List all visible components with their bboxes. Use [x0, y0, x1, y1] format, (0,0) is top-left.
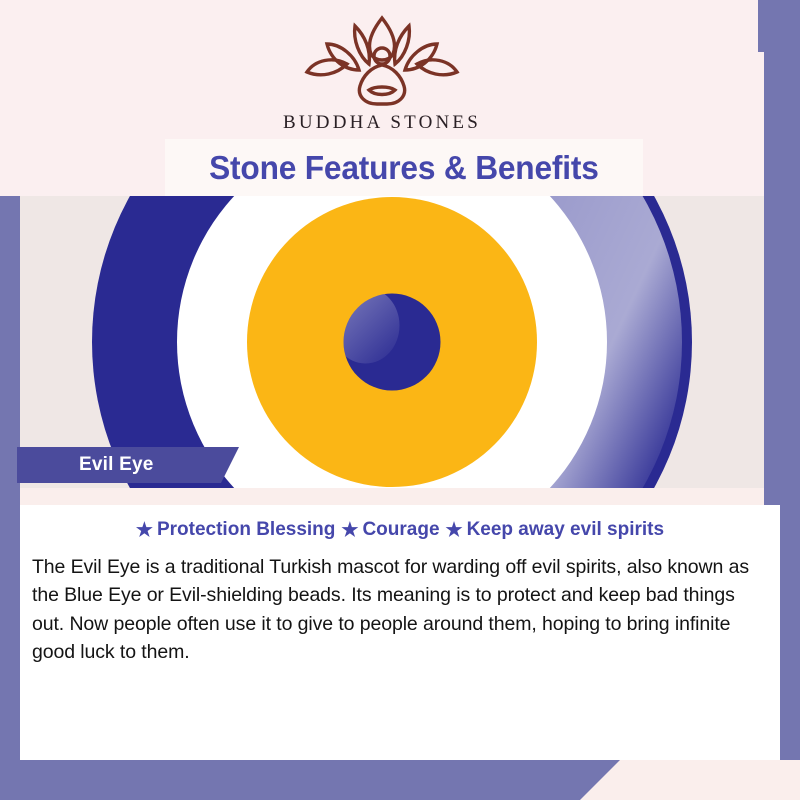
description-text: The Evil Eye is a traditional Turkish ma…	[32, 553, 768, 666]
brand-header: BUDDHA STONES	[0, 14, 764, 134]
lotus-meditation-icon	[0, 14, 764, 110]
stone-name-badge: Evil Eye	[17, 447, 239, 483]
evil-eye-pupil	[344, 294, 441, 391]
star-icon: ★	[446, 521, 463, 540]
feature-label: Keep away evil spirits	[467, 519, 665, 541]
stone-name-label: Evil Eye	[17, 454, 153, 476]
evil-eye-graphic	[92, 196, 692, 488]
star-icon: ★	[341, 521, 358, 540]
page-title: Stone Features & Benefits	[209, 149, 599, 187]
frame-accent-bottom	[0, 760, 620, 800]
feature-item-protection-blessing: ★ Protection Blessing	[136, 519, 335, 541]
evil-eye-pupil-highlight	[344, 294, 400, 364]
product-infographic-poster: BUDDHA STONES Stone Features & Benefits …	[0, 0, 800, 800]
star-icon: ★	[136, 521, 153, 540]
feature-list: ★ Protection Blessing ★ Courage ★ Keep a…	[20, 505, 780, 541]
hero-image	[20, 196, 764, 488]
feature-label: Protection Blessing	[157, 519, 335, 541]
frame-accent-left	[0, 196, 20, 800]
page-title-band: Stone Features & Benefits	[165, 139, 643, 196]
brand-name: BUDDHA STONES	[0, 112, 764, 134]
description-card: ★ Protection Blessing ★ Courage ★ Keep a…	[20, 505, 780, 760]
feature-item-keep-away-evil-spirits: ★ Keep away evil spirits	[446, 519, 665, 541]
feature-item-courage: ★ Courage	[341, 519, 439, 541]
feature-label: Courage	[362, 519, 439, 541]
